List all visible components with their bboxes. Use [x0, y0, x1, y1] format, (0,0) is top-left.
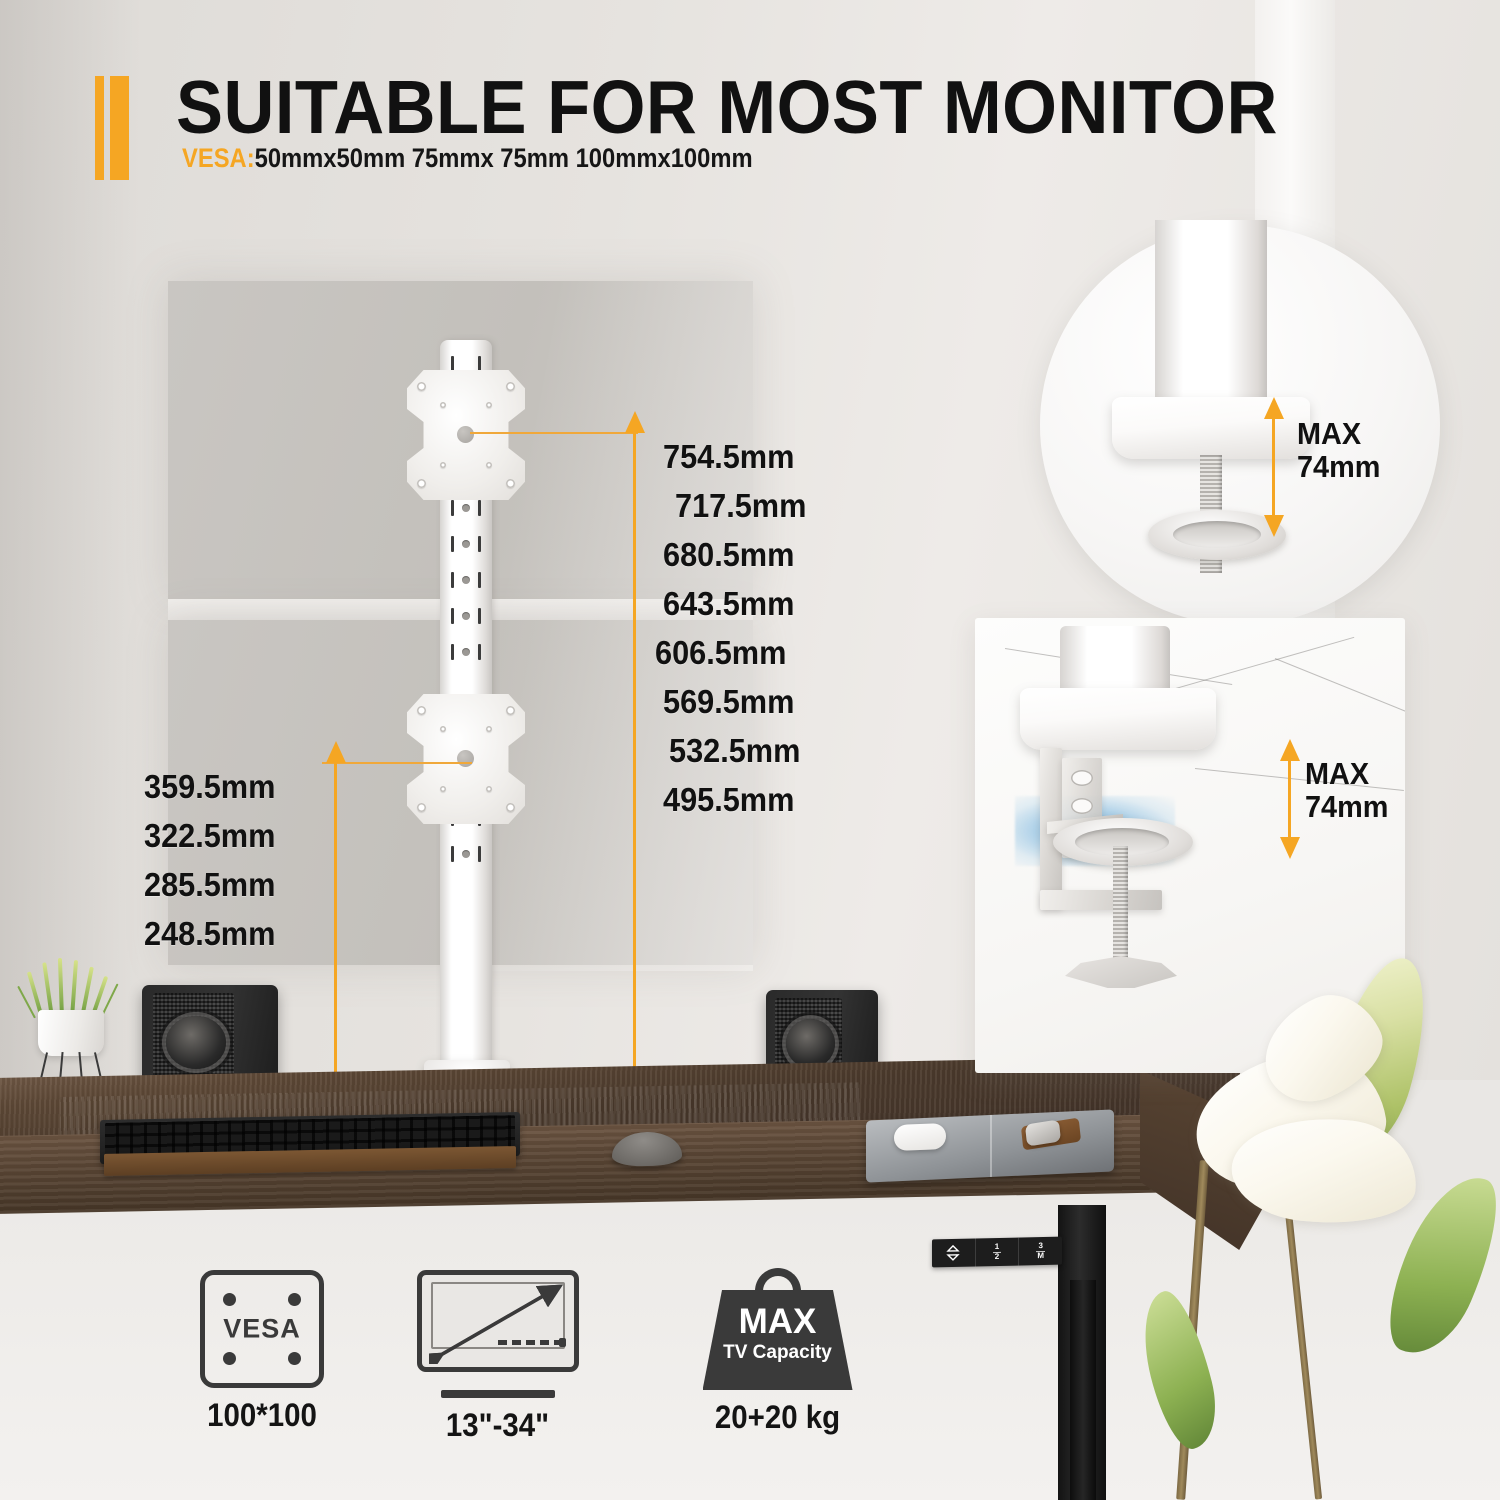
clamp-max-arrow — [1288, 760, 1291, 838]
clamp-screw — [1113, 846, 1128, 966]
vesa-subtitle: VESA:50mmx50mm 75mmx 75mm 100mmx100mm — [182, 143, 753, 174]
feature-vesa: VESA 100*100 — [167, 1270, 357, 1434]
diagonal-arrow-icon — [429, 1280, 567, 1364]
measurement-322: 322.5mm — [144, 817, 275, 855]
feature-row: VESA 100*100 — [0, 1258, 1050, 1488]
grommet-max-line1: MAX — [1297, 416, 1361, 451]
measurement-495: 495.5mm — [663, 781, 794, 819]
dimension-arrow-left — [334, 762, 337, 1080]
grommet-max-line2: 74mm — [1297, 449, 1380, 484]
capacity-max-label: MAX — [703, 1302, 853, 1342]
pole-slot — [451, 608, 481, 624]
measurement-717: 717.5mm — [675, 487, 806, 525]
measurement-680: 680.5mm — [663, 536, 794, 574]
accent-bar-thin — [95, 76, 104, 180]
vesa-plate-lower — [407, 694, 525, 824]
pole-slot — [451, 644, 481, 660]
desk-leg-inner — [1070, 1280, 1096, 1500]
grommet-washer-inner — [1173, 521, 1261, 548]
clamp-hole — [1071, 798, 1093, 814]
clamp-foot — [1065, 956, 1177, 988]
measurement-359: 359.5mm — [144, 768, 275, 806]
feature-screen-size: 13"-34" — [400, 1270, 595, 1444]
accent-bar-thick — [110, 76, 129, 180]
clamp-post — [1060, 626, 1170, 696]
header: SUITABLE FOR MOST MONITOR VESA:50mmx50mm… — [0, 0, 1500, 200]
grommet-max-label: MAX 74mm — [1297, 418, 1380, 484]
vesa-label: VESA: — [182, 143, 255, 173]
pole-slot — [451, 500, 481, 516]
accent-bars — [95, 76, 129, 180]
measurement-532: 532.5mm — [669, 732, 800, 770]
pole-slot — [451, 846, 481, 862]
feature-capacity-caption: 20+20 kg — [688, 1399, 867, 1436]
page-title: SUITABLE FOR MOST MONITOR — [176, 64, 1278, 150]
infographic-canvas: SUITABLE FOR MOST MONITOR VESA:50mmx50mm… — [0, 0, 1500, 1500]
feature-screen-size-caption: 13"-34" — [408, 1407, 587, 1444]
measurement-643: 643.5mm — [663, 585, 794, 623]
measurement-754: 754.5mm — [663, 438, 794, 476]
plant-pot — [38, 1010, 104, 1056]
vesa-sizes: 50mmx50mm 75mmx 75mm 100mmx100mm — [255, 143, 753, 173]
clamp-hole — [1071, 770, 1093, 786]
pole-slot — [451, 536, 481, 552]
clamp-max-label: MAX 74mm — [1305, 758, 1388, 824]
feature-capacity: MAX TV Capacity 20+20 kg — [680, 1268, 875, 1436]
grommet-max-arrow — [1272, 418, 1275, 516]
clamp-bracket-base — [1040, 890, 1162, 910]
vesa-pattern-icon: VESA — [200, 1270, 324, 1388]
dimension-arrow-right — [633, 432, 636, 1080]
capacity-sub-label: TV Capacity — [703, 1342, 853, 1364]
vesa-icon-label: VESA — [205, 1314, 319, 1345]
feature-vesa-caption: 100*100 — [175, 1397, 350, 1434]
clamp-max-line2: 74mm — [1305, 789, 1388, 824]
monitor-size-icon — [417, 1270, 579, 1398]
clamp-cap — [1020, 688, 1216, 750]
weight-bag-icon: MAX TV Capacity — [703, 1268, 853, 1390]
measurement-285: 285.5mm — [144, 866, 275, 904]
pole-slot — [451, 572, 481, 588]
measurement-248: 248.5mm — [144, 915, 275, 953]
measurement-569: 569.5mm — [663, 683, 794, 721]
grommet-post — [1155, 220, 1267, 408]
clamp-max-line1: MAX — [1305, 756, 1369, 791]
potted-plant-foliage — [30, 958, 112, 1018]
measurement-606: 606.5mm — [655, 634, 786, 672]
leader-line-upper — [470, 432, 638, 434]
earbuds-case — [894, 1123, 946, 1151]
artwork-line — [1275, 658, 1405, 715]
vesa-plate-upper — [407, 370, 525, 500]
